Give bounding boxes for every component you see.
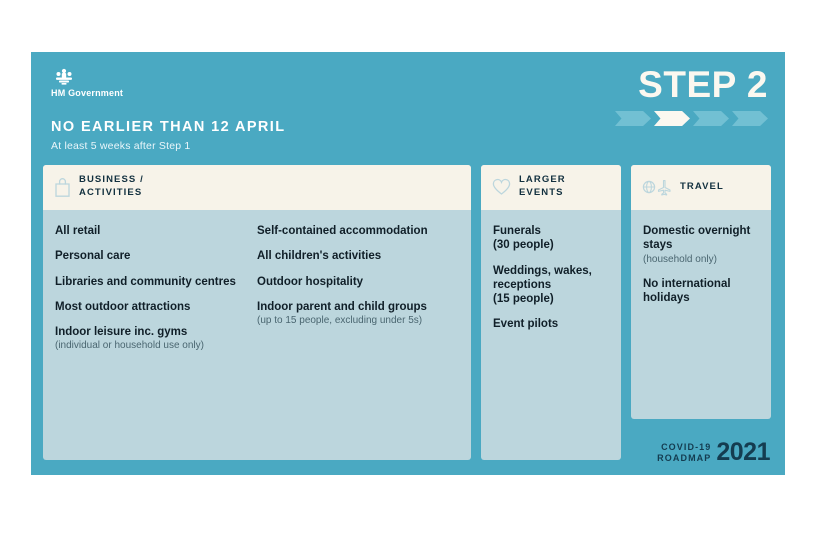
list-item-label: Personal care: [55, 249, 247, 263]
airplane-icon: [659, 181, 671, 195]
list-item-label: Outdoor hospitality: [257, 275, 449, 289]
panel-travel: TRAVEL Domestic overnight stays (househo…: [631, 165, 771, 419]
list-item-label: Weddings, wakes, receptions (15 people): [493, 264, 609, 307]
year-label: 2021: [716, 440, 770, 465]
covid-roadmap-step2-poster: HM Government NO EARLIER THAN 12 APRIL A…: [31, 52, 785, 475]
step-title: STEP 2: [608, 66, 768, 103]
list-item: Event pilots: [493, 317, 609, 331]
list-item-label: Funerals (30 people): [493, 224, 609, 253]
list-item-label: Self-contained accommodation: [257, 224, 449, 238]
list-item: Indoor parent and child groups (up to 15…: [257, 300, 449, 328]
list-item: Indoor leisure inc. gyms (individual or …: [55, 325, 247, 353]
panel-events-body: Funerals (30 people) Weddings, wakes, re…: [481, 210, 621, 342]
list-item: Funerals (30 people): [493, 224, 609, 253]
chevron-step-1: [615, 111, 651, 126]
list-item-label: Indoor parent and child groups: [257, 300, 449, 314]
list-item: Most outdoor attractions: [55, 300, 247, 314]
list-item-label: Most outdoor attractions: [55, 300, 247, 314]
list-item-label: Libraries and community centres: [55, 275, 247, 289]
panel-events-title: LARGER EVENTS: [519, 174, 566, 200]
date-subline: At least 5 weeks after Step 1: [51, 140, 190, 152]
list-item: Self-contained accommodation: [257, 224, 449, 238]
list-item-label: Event pilots: [493, 317, 609, 331]
shopping-bag-icon: [54, 177, 71, 198]
list-item-note: (household only): [643, 254, 759, 267]
covid-roadmap-wordmark: COVID-19 ROADMAP: [657, 442, 711, 462]
business-column-right: Self-contained accommodation All childre…: [257, 224, 459, 353]
list-item: Domestic overnight stays (household only…: [643, 224, 759, 266]
list-item-note: (up to 15 people, excluding under 5s): [257, 315, 449, 328]
step-progress-chevrons: [608, 111, 768, 126]
panel-travel-title: TRAVEL: [680, 181, 724, 194]
panel-business-body: All retail Personal care Libraries and c…: [43, 210, 471, 363]
business-column-left: All retail Personal care Libraries and c…: [55, 224, 257, 353]
list-item: Libraries and community centres: [55, 275, 247, 289]
list-item: No international holidays: [643, 277, 759, 306]
list-item: All children's activities: [257, 249, 449, 263]
date-headline: NO EARLIER THAN 12 APRIL: [51, 119, 285, 135]
list-item-label: All retail: [55, 224, 247, 238]
panel-business-activities: BUSINESS / ACTIVITIES All retail Persona…: [43, 165, 471, 460]
step-indicator: STEP 2: [608, 66, 768, 126]
list-item: Outdoor hospitality: [257, 275, 449, 289]
chevron-step-4: [732, 111, 768, 126]
panel-events-header: LARGER EVENTS: [481, 165, 621, 210]
hm-government-branding: HM Government: [51, 68, 123, 98]
list-item: Weddings, wakes, receptions (15 people): [493, 264, 609, 307]
royal-crest-icon: [51, 68, 77, 86]
list-item-label: All children's activities: [257, 249, 449, 263]
list-item: All retail: [55, 224, 247, 238]
roadmap-label: ROADMAP: [657, 453, 711, 463]
covid-roadmap-logo: COVID-19 ROADMAP 2021: [657, 440, 770, 465]
chevron-step-3: [693, 111, 729, 126]
list-item-label: Indoor leisure inc. gyms: [55, 325, 247, 339]
hm-government-label: HM Government: [51, 88, 123, 98]
panel-larger-events: LARGER EVENTS Funerals (30 people) Weddi…: [481, 165, 621, 460]
list-item-label: Domestic overnight stays: [643, 224, 759, 253]
list-item-note: (individual or household use only): [55, 340, 247, 353]
list-item-label: No international holidays: [643, 277, 759, 306]
heart-icon: [492, 178, 511, 196]
chevron-step-2: [654, 111, 690, 126]
globe-icon: [642, 178, 672, 196]
panel-business-header: BUSINESS / ACTIVITIES: [43, 165, 471, 210]
covid-label: COVID-19: [657, 442, 711, 452]
list-item: Personal care: [55, 249, 247, 263]
panel-business-title: BUSINESS / ACTIVITIES: [79, 174, 144, 200]
panel-travel-body: Domestic overnight stays (household only…: [631, 210, 771, 316]
panel-travel-header: TRAVEL: [631, 165, 771, 210]
